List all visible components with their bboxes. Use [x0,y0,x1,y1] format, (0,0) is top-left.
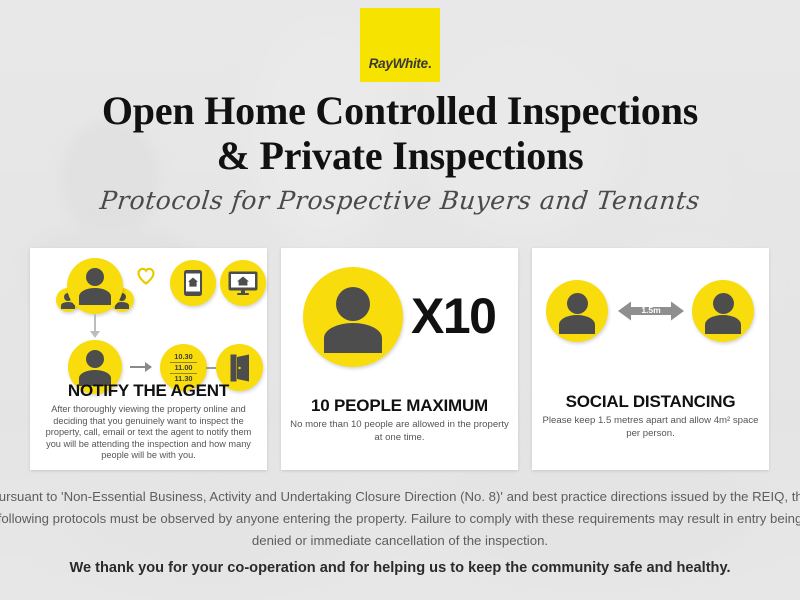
card3-illustration: 1.5m [532,248,769,388]
time-slot: 11.00 [174,363,192,373]
arrow-right-head [145,362,152,372]
mobile-house-circle [170,260,216,306]
heart-icon [136,266,156,286]
people-group-main [67,258,123,314]
card1-illustration: 10.30 11.00 11.30 [30,248,267,388]
card-ten-people-maximum: X10 10 PEOPLE MAXIMUM No more than 10 pe… [281,248,518,470]
card-social-distancing: 1.5m SOCIAL DISTANCING Please keep 1.5 m… [532,248,769,470]
time-slot-divider [170,362,197,363]
multiplier-label: X10 [411,287,495,345]
logo-text-white: White [393,56,428,71]
heading-line-1: Open Home Controlled Inspections [0,88,800,133]
card1-body: After thoroughly viewing the property on… [38,404,259,462]
logo-text-ray: Ray [369,56,393,71]
person-circle-left [546,280,608,342]
time-slot: 10.30 [174,352,193,362]
poster-canvas: RayWhite. Open Home Controlled Inspectio… [0,0,800,600]
logo-trademark: . [428,56,431,71]
card3-text-block: SOCIAL DISTANCING Please keep 1.5 metres… [532,392,769,440]
distance-label: 1.5m [618,305,684,315]
card2-title: 10 PEOPLE MAXIMUM [289,396,510,416]
footer-legal-text: Pursuant to 'Non-Essential Business, Act… [0,486,800,552]
card2-illustration: X10 [281,248,518,393]
card1-title: NOTIFY THE AGENT [38,381,259,401]
card-notify-the-agent: 10.30 11.00 11.30 [30,248,267,470]
arrow-down-shaft [94,314,96,332]
heading-block: Open Home Controlled Inspections & Priva… [0,88,800,215]
card1-text-block: NOTIFY THE AGENT After thoroughly viewin… [30,381,267,462]
distance-arrow-icon: 1.5m [618,298,684,329]
person-circle-large [303,267,403,367]
mobile-house-icon [183,269,203,302]
person-icon [67,258,123,314]
logo-text: RayWhite. [369,56,432,82]
person-circle-right [692,280,754,342]
footer-block: Pursuant to 'Non-Essential Business, Act… [0,482,800,600]
arrow-right-shaft [130,366,146,368]
heading-subtitle: Protocols for Prospective Buyers and Ten… [0,186,800,215]
person-icon [303,267,403,367]
desktop-house-icon [228,271,258,300]
arrow-down-head [90,331,100,338]
card2-body: No more than 10 people are allowed in th… [289,419,510,444]
desktop-house-circle [220,260,266,306]
footer-thanks-text: We thank you for your co-operation and f… [0,560,800,576]
time-slot-divider [170,373,197,374]
person-icon [546,280,608,342]
cards-row: 10.30 11.00 11.30 [30,248,770,470]
raywhite-logo: RayWhite. [360,8,440,82]
person-icon [692,280,754,342]
card3-title: SOCIAL DISTANCING [540,392,761,412]
card2-text-block: 10 PEOPLE MAXIMUM No more than 10 people… [281,396,518,444]
heading-line-2: & Private Inspections [0,133,800,178]
card3-body: Please keep 1.5 metres apart and allow 4… [540,415,761,440]
